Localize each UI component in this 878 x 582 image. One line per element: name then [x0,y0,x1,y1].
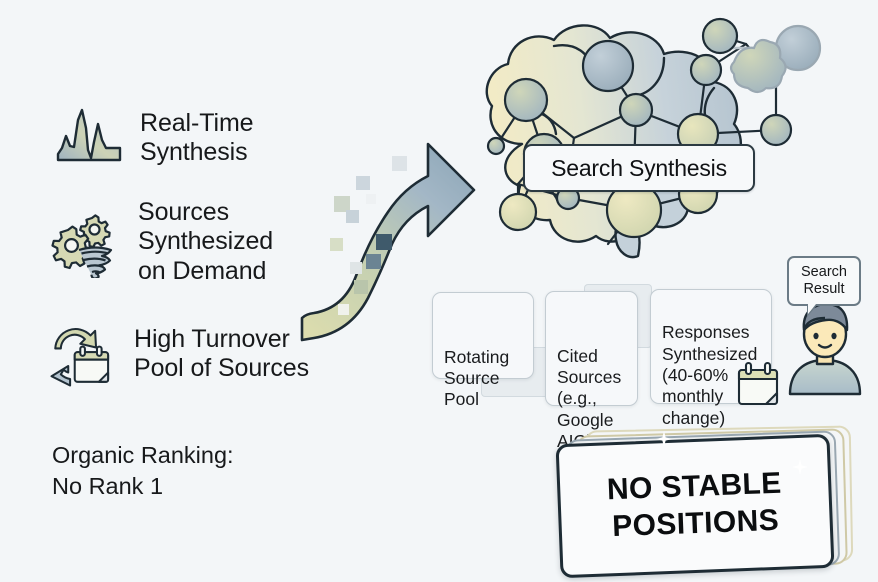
feature-label: High Turnover Pool of Sources [134,325,309,384]
card-ghost-layer [584,284,652,348]
banner-card: NO STABLE POSITIONS [556,434,835,578]
sparkline-icon [52,102,128,174]
card-cited-sources: Cited Sources (e.g., Google AIO) [545,291,638,406]
sparkle-icon [792,459,808,475]
feature-item-real-time-synthesis: Real-Time Synthesis [52,102,253,174]
organic-ranking-text: Organic Ranking: No Rank 1 [52,440,234,501]
network-node [505,79,547,121]
feature-label: Sources Synthesized on Demand [138,198,273,286]
avatar-icon [784,300,866,396]
feature-item-high-turnover: High Turnover Pool of Sources [46,318,309,390]
card-text: Rotating Source Pool [444,347,509,410]
recycle-calendar-icon [46,318,122,390]
calendar-icon [733,358,785,410]
card-rotating-source-pool: Rotating Source Pool [432,292,534,379]
speech-bubble: Search Result [787,256,861,306]
brain-label: Search Synthesis [523,144,755,192]
banner-stack: NO STABLE POSITIONS [556,425,856,570]
feature-item-sources-synthesized: Sources Synthesized on Demand [50,198,273,286]
sparkle-icon [656,431,672,447]
gears-tornado-icon [50,206,126,278]
infographic-canvas: Real-Time Synthesis Sources Synthesized … [0,0,878,582]
banner-text: NO STABLE POSITIONS [606,466,783,546]
feature-label: Real-Time Synthesis [140,109,253,168]
